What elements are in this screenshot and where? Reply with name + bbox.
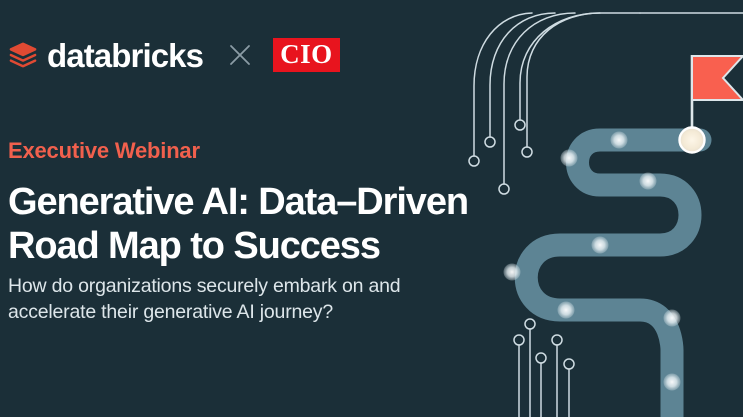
bottom-circuit-terminals (514, 319, 574, 369)
bottom-circuit-lines (519, 329, 569, 417)
eyebrow-label: Executive Webinar (8, 138, 200, 163)
goal-flag-icon (680, 55, 743, 153)
subheading-line-2: accelerate their generative AI journey? (8, 301, 333, 323)
page-title: Generative AI: Data–Driven Road Map to S… (8, 180, 508, 268)
databricks-logo[interactable]: databricks (8, 39, 203, 72)
winding-road-path (526, 140, 700, 417)
headline-line-1: Generative AI: Data–Driven (8, 181, 468, 223)
webinar-banner: databricks CIO Executive Webinar Generat… (0, 0, 743, 417)
logo-lockup-row: databricks CIO (8, 30, 340, 80)
top-circuit-lines (474, 13, 743, 184)
road-milestone-dots (504, 132, 681, 391)
subheading-line-1: How do organizations securely embark on … (8, 275, 400, 297)
headline-line-2: Road Map to Success (8, 225, 380, 267)
cio-logo[interactable]: CIO (273, 38, 340, 72)
databricks-layers-icon (8, 40, 38, 70)
x-icon (229, 44, 251, 66)
databricks-wordmark: databricks (47, 39, 203, 72)
subheading: How do organizations securely embark on … (8, 274, 478, 326)
cio-wordmark: CIO (280, 41, 333, 68)
